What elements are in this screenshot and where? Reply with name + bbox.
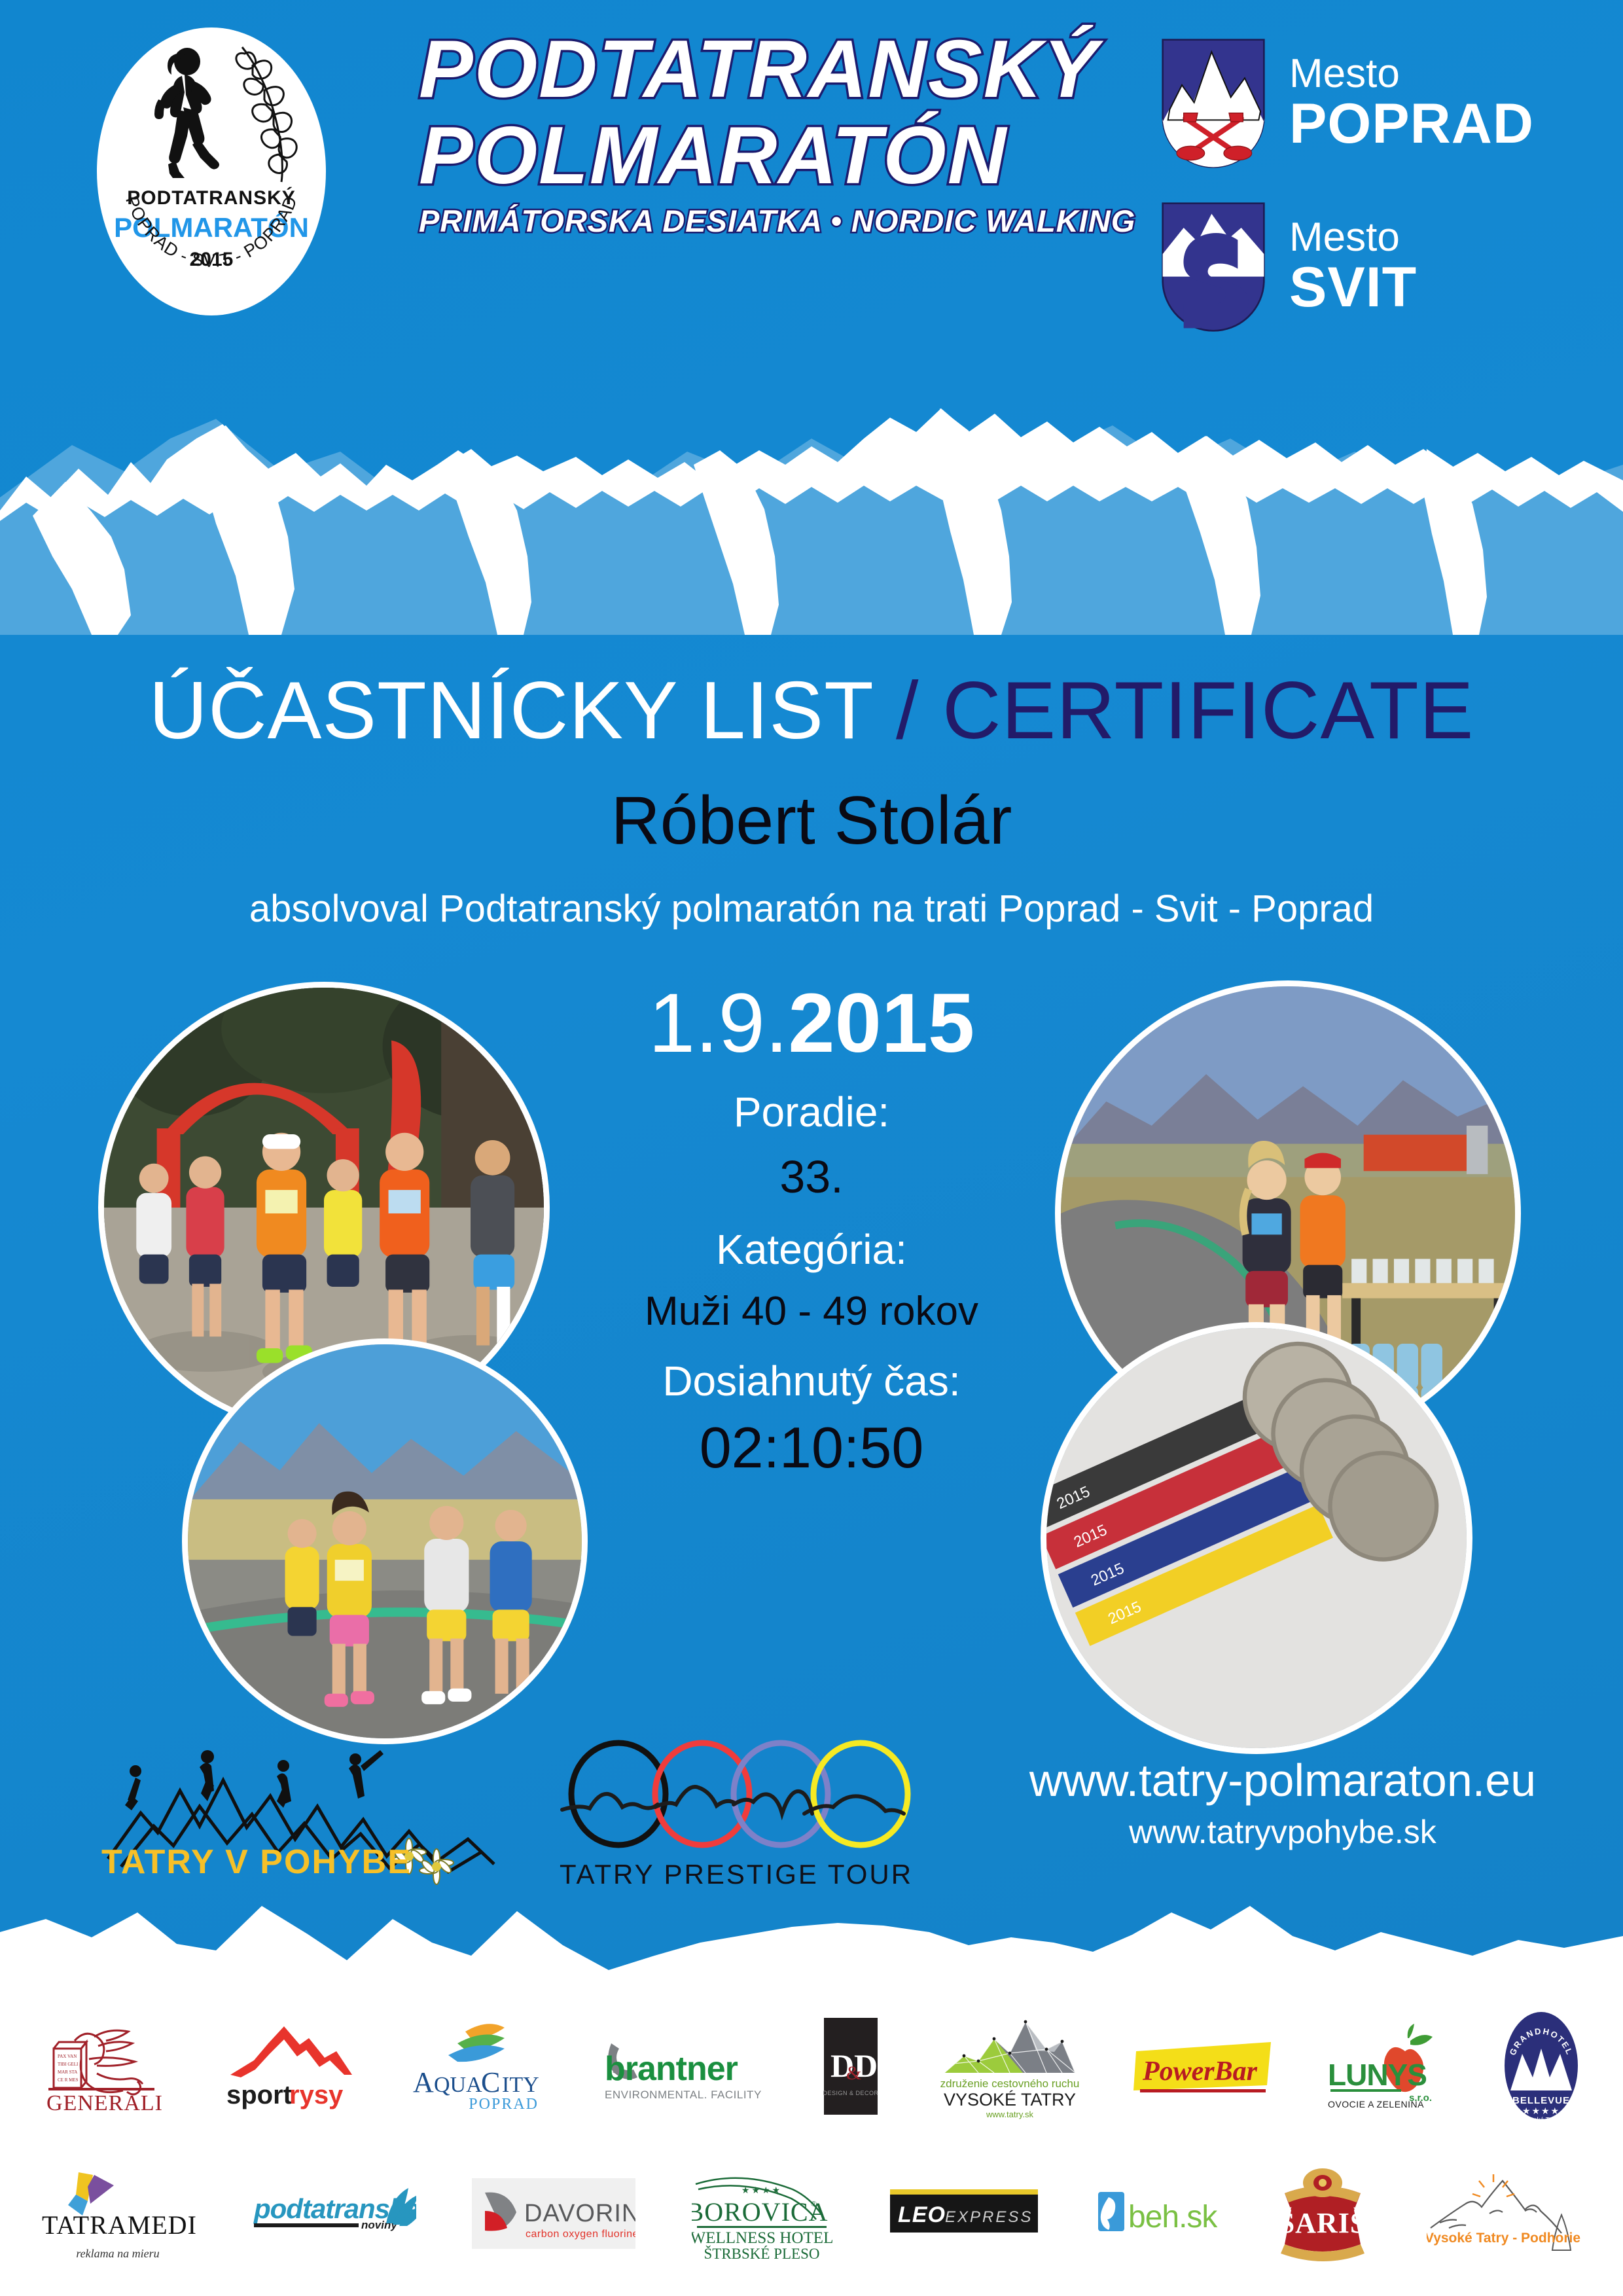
sponsor-row-2: TATRAMEDIA reklama na mieru podtatranské…	[39, 2148, 1584, 2279]
svg-text:&: &	[846, 2062, 861, 2084]
event-date: 1.9.2015	[550, 982, 1073, 1066]
svg-text:TIBI GELI: TIBI GELI	[58, 2062, 79, 2067]
sponsor-behsk-label: beh.sk	[1128, 2200, 1218, 2234]
sponsor-aquacity: A QUA C ITY POPRAD	[409, 1998, 550, 2135]
url-main[interactable]: www.tatry-polmaraton.eu	[969, 1754, 1597, 1806]
sponsor-zdruzenie-label: VYSOKÉ TATRY	[943, 2090, 1075, 2109]
sponsor-behsk: beh.sk	[1096, 2148, 1220, 2279]
sponsor-borovica-sub2: ŠTRBSKÉ PLESO	[704, 2245, 820, 2262]
sponsor-vysoke-tatry-podhorie: Vysoké Tatry - Podhorie	[1427, 2148, 1584, 2279]
sponsor-tatramedia-sub: reklama na mieru	[76, 2247, 159, 2260]
certificate-title-en: CERTIFICATE	[942, 666, 1474, 756]
sponsor-d-and-d-sub: DESIGN & DECOR	[823, 2090, 878, 2096]
tatry-prestige-tour-logo-icon	[553, 1738, 919, 1856]
tatry-prestige-tour-label: TATRY PRESTIGE TOUR	[553, 1859, 919, 1890]
wordmark-line1: PODTATRANSKÝ	[419, 31, 1126, 109]
sponsor-grandhotel-bellevue: GRANDHOTEL BELLEVUE ★★★★ Vysoké Tatry	[1499, 1998, 1584, 2135]
sponsor-sportrysy-label-b: rysy	[289, 2081, 344, 2109]
category-label: Kategória:	[550, 1225, 1073, 1274]
sponsor-lunys: LUNYS s.r.o. OVOCIE A ZELENINA	[1324, 1998, 1448, 2135]
time-label: Dosiahnutý čas:	[550, 1357, 1073, 1405]
svg-text:MAR STA: MAR STA	[58, 2070, 77, 2075]
sponsor-grandhotel-stars: ★★★★	[1522, 2106, 1560, 2116]
crest-svit-big: SVIT	[1289, 258, 1417, 317]
sponsor-tatramedia: TATRAMEDIA reklama na mieru	[39, 2148, 196, 2279]
certificate-title-separator: /	[873, 666, 942, 756]
tatry-v-pohybe-label: TATRY V POHYBE	[101, 1842, 468, 1882]
sponsor-zdruzenie-vysoke-tatry: združenie cestovného ruchu VYSOKÉ TATRY …	[938, 1998, 1082, 2135]
participant-name: Róbert Stolár	[0, 782, 1623, 860]
wordmark-subtitle: PRIMÁTORSKA DESIATKA • NORDIC WALKING	[419, 203, 1126, 239]
event-emblem: PODTATRANSKÝ POLMARATÓN 2015 POPRAD - SV…	[97, 27, 326, 315]
sponsor-tatramedia-label: TATRAMEDIA	[42, 2210, 196, 2240]
rank-label: Poradie:	[550, 1088, 1073, 1136]
sponsor-davorin-label: DAVORIN	[524, 2200, 635, 2227]
results-block: 1.9.2015 Poradie: 33. Kategória: Muži 40…	[550, 982, 1073, 1481]
event-wordmark: PODTATRANSKÝ POLMARATÓN PRIMÁTORSKA DESI…	[419, 31, 1126, 239]
certificate-title: ÚČASTNÍCKY LIST / CERTIFICATE	[0, 664, 1623, 757]
wordmark-line2: POLMARATÓN	[419, 118, 1126, 195]
crest-block-poprad: Mesto POPRAD	[1158, 38, 1534, 169]
sponsor-leo-label-a: LEO	[898, 2202, 946, 2227]
certificate-poster: PODTATRANSKÝ POLMARATÓN 2015 POPRAD - SV…	[0, 0, 1623, 2296]
crest-svit-small: Mesto	[1289, 217, 1417, 258]
sponsor-brantner-label: brantner	[605, 2050, 738, 2088]
sponsor-borovica: ★★★★ BOROVICA ® WELLNESS HOTEL ŠTRBSKÉ P…	[692, 2148, 832, 2279]
category-value: Muži 40 - 49 rokov	[550, 1288, 1073, 1335]
sponsor-d-and-d: D D & DESIGN & DECOR	[815, 1998, 887, 2135]
svg-text:A: A	[413, 2066, 434, 2098]
sponsor-davorin: DAVORIN carbon oxygen fluorine	[472, 2148, 635, 2279]
crest-poprad-small: Mesto	[1289, 54, 1534, 94]
svg-text:POPRAD - SVIT - POPRAD: POPRAD - SVIT - POPRAD	[122, 193, 301, 271]
photo-field-runners	[182, 1338, 588, 1744]
svg-text:®: ®	[811, 2199, 817, 2208]
crest-block-svit: Mesto SVIT	[1158, 202, 1417, 332]
sponsor-sportrysy-label-a: sport	[226, 2081, 292, 2109]
sponsor-sportrysy: sport rysy	[221, 1998, 359, 2135]
url-secondary[interactable]: www.tatryvpohybe.sk	[969, 1813, 1597, 1851]
sponsor-borovica-label: BOROVICA	[692, 2197, 828, 2227]
mountain-silhouette-band	[0, 340, 1623, 635]
sponsor-davorin-sub: carbon oxygen fluorine	[526, 2229, 635, 2240]
website-links: www.tatry-polmaraton.eu www.tatryvpohybe…	[969, 1754, 1597, 1851]
sponsor-borovica-sub: WELLNESS HOTEL	[692, 2229, 832, 2247]
sponsor-strip: PAX VANTIBI GELI MAR STACE R MES GENERAL…	[0, 1983, 1623, 2296]
svg-text:ITY: ITY	[502, 2073, 539, 2097]
sponsor-zdruzenie-sub: združenie cestovného ruchu	[940, 2077, 1079, 2090]
crest-poprad-big: POPRAD	[1289, 94, 1534, 153]
sponsor-aquacity-sub: POPRAD	[469, 2096, 539, 2113]
svg-text:PAX VAN: PAX VAN	[58, 2054, 77, 2059]
sponsor-grandhotel-label: BELLEVUE	[1512, 2095, 1570, 2106]
svg-text:C: C	[481, 2066, 500, 2098]
sponsor-row-1: PAX VANTIBI GELI MAR STACE R MES GENERAL…	[39, 1998, 1584, 2135]
sponsor-powerbar: PowerBar	[1132, 1998, 1273, 2135]
certificate-subline: absolvoval Podtatranský polmaratón na tr…	[0, 887, 1623, 931]
sponsor-borovica-stars: ★★★★	[741, 2185, 782, 2195]
sponsor-podtatranske-noviny: podtatranské noviny	[253, 2148, 416, 2279]
sponsor-leo-express: LEO EXPRESS	[889, 2148, 1039, 2279]
rank-value: 33.	[550, 1151, 1073, 1203]
event-date-year: 2015	[788, 977, 974, 1070]
certificate-title-sk: ÚČASTNÍCKY LIST	[149, 666, 873, 756]
sponsor-zdruzenie-url: www.tatry.sk	[986, 2109, 1033, 2119]
sponsor-vysoke-tatry-podhorie-label: Vysoké Tatry - Podhorie	[1427, 2231, 1580, 2246]
sponsor-saris: ŠARIŠ	[1275, 2148, 1370, 2279]
sponsor-powerbar-label: PowerBar	[1142, 2056, 1258, 2087]
sponsor-grandhotel-sub: Vysoké Tatry	[1523, 2117, 1560, 2124]
time-value: 02:10:50	[550, 1414, 1073, 1481]
sponsor-saris-label: ŠARIŠ	[1279, 2206, 1367, 2239]
event-date-daymonth: 1.9.	[649, 977, 789, 1070]
emblem-arc-text: POPRAD - SVIT - POPRAD	[97, 27, 326, 315]
sponsor-lunys-label: LUNYS	[1328, 2058, 1427, 2092]
sponsor-generali-label: GENERALI	[46, 2091, 163, 2115]
sponsor-brantner-sub: ENVIRONMENTAL. FACILITY SERVICES	[605, 2089, 764, 2101]
svg-text:CE R MES: CE R MES	[58, 2077, 79, 2083]
sponsor-brantner: brantner ENVIRONMENTAL. FACILITY SERVICE…	[601, 1998, 764, 2135]
sponsor-generali: PAX VANTIBI GELI MAR STACE R MES GENERAL…	[39, 1998, 170, 2135]
poprad-crest-icon	[1158, 38, 1268, 169]
photo-finisher-medals: 20152015 20152015	[1041, 1322, 1472, 1754]
sponsor-leo-label-b: EXPRESS	[945, 2208, 1033, 2226]
svg-text:QUA: QUA	[434, 2073, 482, 2097]
sponsor-lunys-sub: OVOCIE A ZELENINA	[1328, 2099, 1424, 2109]
poster-header: PODTATRANSKÝ POLMARATÓN 2015 POPRAD - SV…	[0, 0, 1623, 340]
svit-crest-icon	[1158, 202, 1268, 332]
